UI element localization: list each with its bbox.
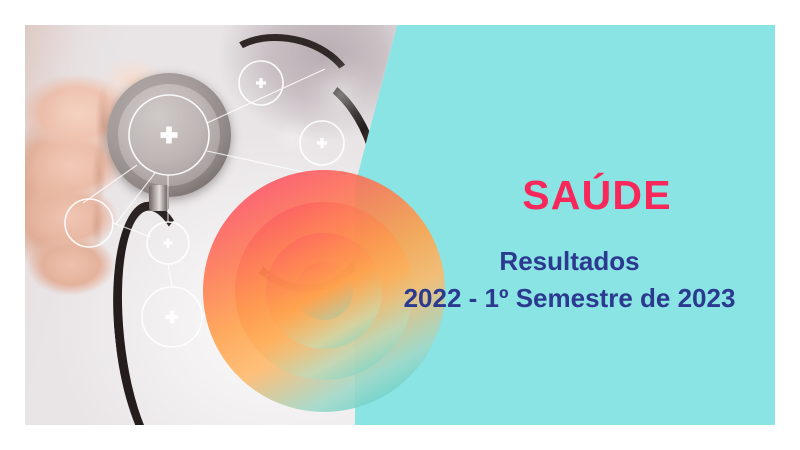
network-link [83,165,137,203]
network-link [115,173,155,225]
network-link [113,223,151,237]
subtitle-group: Resultados 2022 - 1º Semestre de 2023 [370,243,769,317]
page-title: SAÚDE [425,175,769,216]
medical-cross-icon [256,78,266,88]
subtitle-line-1: Resultados [370,243,769,280]
network-node-ring [65,199,113,247]
medical-cross-icon [164,239,173,248]
circle-ring-core [295,262,353,320]
medical-cross-icon [317,138,327,148]
network-link [168,264,172,287]
teal-background-panel: SAÚDE Resultados 2022 - 1º Semestre de 2… [25,25,775,425]
network-link [207,69,325,123]
slide-canvas: SAÚDE Resultados 2022 - 1º Semestre de 2… [0,0,800,450]
medical-cross-icon [161,127,178,144]
medical-cross-icon [166,311,179,324]
subtitle-line-2: 2022 - 1º Semestre de 2023 [370,280,769,317]
title-text-block: SAÚDE Resultados 2022 - 1º Semestre de 2… [425,25,775,425]
